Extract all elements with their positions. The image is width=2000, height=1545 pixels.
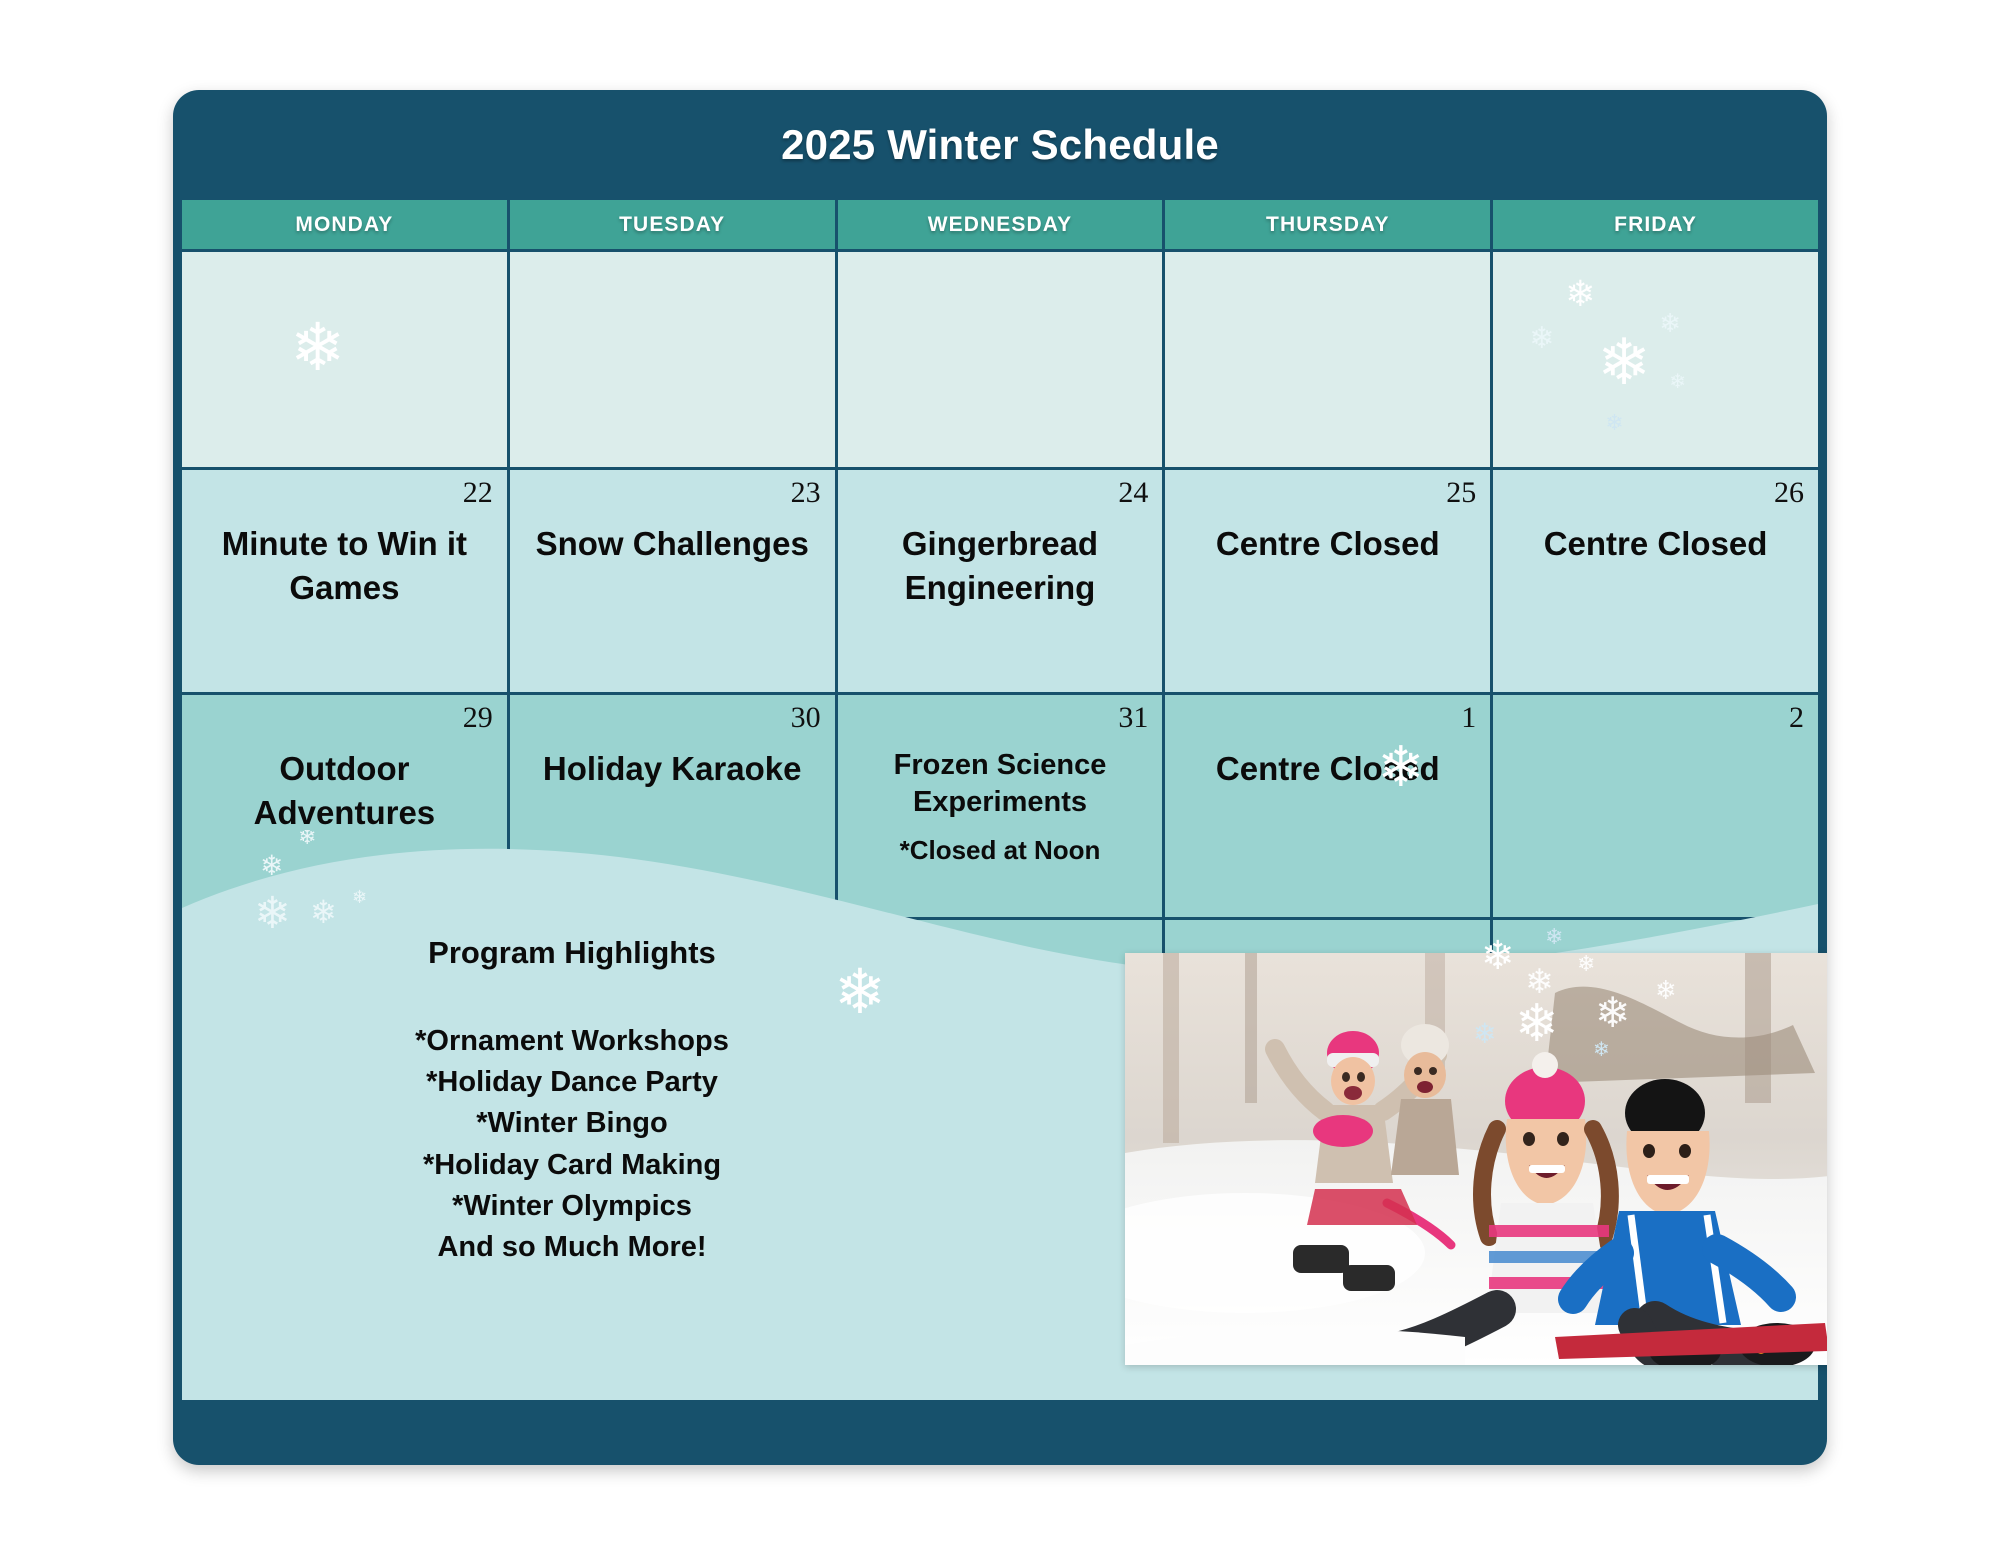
date-number: 25 (1446, 478, 1476, 508)
snowflake-icon: ❄ (1597, 330, 1651, 394)
highlight-item: *Ornament Workshops (242, 1021, 902, 1062)
calendar-day-cell[interactable]: 31 Frozen Science Experiments *Closed at… (838, 695, 1166, 920)
date-number: 2 (1789, 703, 1804, 733)
calendar-day-cell[interactable] (510, 252, 838, 470)
weekday-label: WEDNESDAY (928, 213, 1072, 237)
calendar-day-body: Minute to Win it Games (182, 522, 507, 609)
svg-text:❄: ❄ (1577, 953, 1595, 977)
calendar-day-cell[interactable]: 1 Centre Closed ❄ (1165, 695, 1493, 920)
snowflake-icon: ❄ (1529, 324, 1554, 354)
calendar-day-body: Snow Challenges (510, 522, 835, 566)
calendar-day-body: Gingerbread Engineering (838, 522, 1163, 609)
calendar-day-cell[interactable]: 23 Snow Challenges (510, 470, 838, 695)
calendar-day-body: Centre Closed (1165, 522, 1490, 566)
calendar-week-row: 29 Outdoor Adventures 30 Holiday Karaoke… (182, 695, 1818, 920)
activity-label: Outdoor Adventures (192, 747, 497, 834)
program-highlights: Program Highlights *Ornament Workshops *… (242, 935, 902, 1268)
activity-label: Minute to Win it Games (192, 522, 497, 609)
svg-text:❄: ❄ (1595, 988, 1630, 1037)
page-title: 2025 Winter Schedule (781, 121, 1219, 169)
svg-text:❄: ❄ (1655, 976, 1677, 1006)
weekday-label: THURSDAY (1266, 213, 1390, 237)
activity-note: *Closed at Noon (848, 835, 1153, 866)
poster-title-band: 2025 Winter Schedule (173, 90, 1827, 200)
calendar-day-cell[interactable]: ❄ (182, 252, 510, 470)
weekday-label: FRIDAY (1614, 213, 1697, 237)
date-number: 24 (1118, 478, 1148, 508)
date-number: 22 (463, 478, 493, 508)
highlight-item: *Winter Bingo (242, 1103, 902, 1144)
date-number: 29 (463, 703, 493, 733)
date-number: 23 (791, 478, 821, 508)
weekday-header-wednesday: WEDNESDAY (838, 200, 1166, 252)
calendar-day-cell[interactable]: 22 Minute to Win it Games (182, 470, 510, 695)
winter-schedule-poster: 2025 Winter Schedule MONDAY TUESDAY WEDN… (173, 90, 1827, 1465)
date-number: 30 (791, 703, 821, 733)
weekday-header-monday: MONDAY (182, 200, 510, 252)
activity-label: Holiday Karaoke (520, 747, 825, 791)
weekday-header-friday: FRIDAY (1493, 200, 1818, 252)
weekday-label: TUESDAY (619, 213, 725, 237)
calendar-day-cell[interactable]: 24 Gingerbread Engineering (838, 470, 1166, 695)
svg-text:❄: ❄ (1525, 962, 1554, 1002)
calendar-day-cell[interactable]: 29 Outdoor Adventures (182, 695, 510, 920)
activity-label: Snow Challenges (520, 522, 825, 566)
date-number: 1 (1461, 703, 1476, 733)
calendar-day-cell[interactable]: 30 Holiday Karaoke (510, 695, 838, 920)
calendar-day-body: Outdoor Adventures (182, 747, 507, 834)
weekday-header-thursday: THURSDAY (1165, 200, 1493, 252)
calendar-day-cell[interactable]: 2 (1493, 695, 1818, 920)
snowflake-icon: ❄ (1605, 412, 1623, 434)
activity-label: Frozen Science Experiments (848, 747, 1153, 821)
snowflake-icon: ❄ (290, 314, 345, 380)
weekday-label: MONDAY (295, 213, 393, 237)
activity-label: Gingerbread Engineering (848, 522, 1153, 609)
calendar-day-body: Frozen Science Experiments *Closed at No… (838, 747, 1163, 866)
activity-label: Centre Closed (1503, 522, 1808, 566)
snowflake-icon: ❄ (1565, 276, 1595, 312)
calendar-week-row: 22 Minute to Win it Games 23 Snow Challe… (182, 470, 1818, 695)
snowflake-icon: ❄ (1669, 372, 1686, 392)
calendar-day-body: Centre Closed (1165, 747, 1490, 791)
calendar-day-cell[interactable]: 25 Centre Closed (1165, 470, 1493, 695)
calendar-day-cell[interactable] (838, 252, 1166, 470)
activity-label: Centre Closed (1175, 522, 1480, 566)
weekday-header-row: MONDAY TUESDAY WEDNESDAY THURSDAY FRIDAY (182, 200, 1818, 252)
highlights-title: Program Highlights (242, 935, 902, 971)
date-number: 26 (1774, 478, 1804, 508)
sledding-photo: ❄ ❄ ❄ ❄ (1125, 953, 1827, 1365)
calendar-day-cell[interactable]: 26 Centre Closed (1493, 470, 1818, 695)
highlight-item: *Winter Olympics (242, 1186, 902, 1227)
snowflake-icon: ❄ (1659, 310, 1681, 336)
highlight-item: *Holiday Card Making (242, 1145, 902, 1186)
calendar-week-row: ❄ ❄ ❄ ❄ ❄ ❄ ❄ (182, 252, 1818, 470)
activity-label: Centre Closed (1175, 747, 1480, 791)
date-number: 31 (1118, 703, 1148, 733)
weekday-header-tuesday: TUESDAY (510, 200, 838, 252)
calendar-day-body: Centre Closed (1493, 522, 1818, 566)
sledding-photo-illustration: ❄ ❄ ❄ ❄ (1125, 953, 1827, 1365)
highlight-item: And so Much More! (242, 1227, 902, 1268)
highlight-item: *Holiday Dance Party (242, 1062, 902, 1103)
calendar-day-body: Holiday Karaoke (510, 747, 835, 791)
calendar-day-cell[interactable] (1165, 252, 1493, 470)
calendar-day-cell[interactable]: ❄ ❄ ❄ ❄ ❄ ❄ (1493, 252, 1818, 470)
